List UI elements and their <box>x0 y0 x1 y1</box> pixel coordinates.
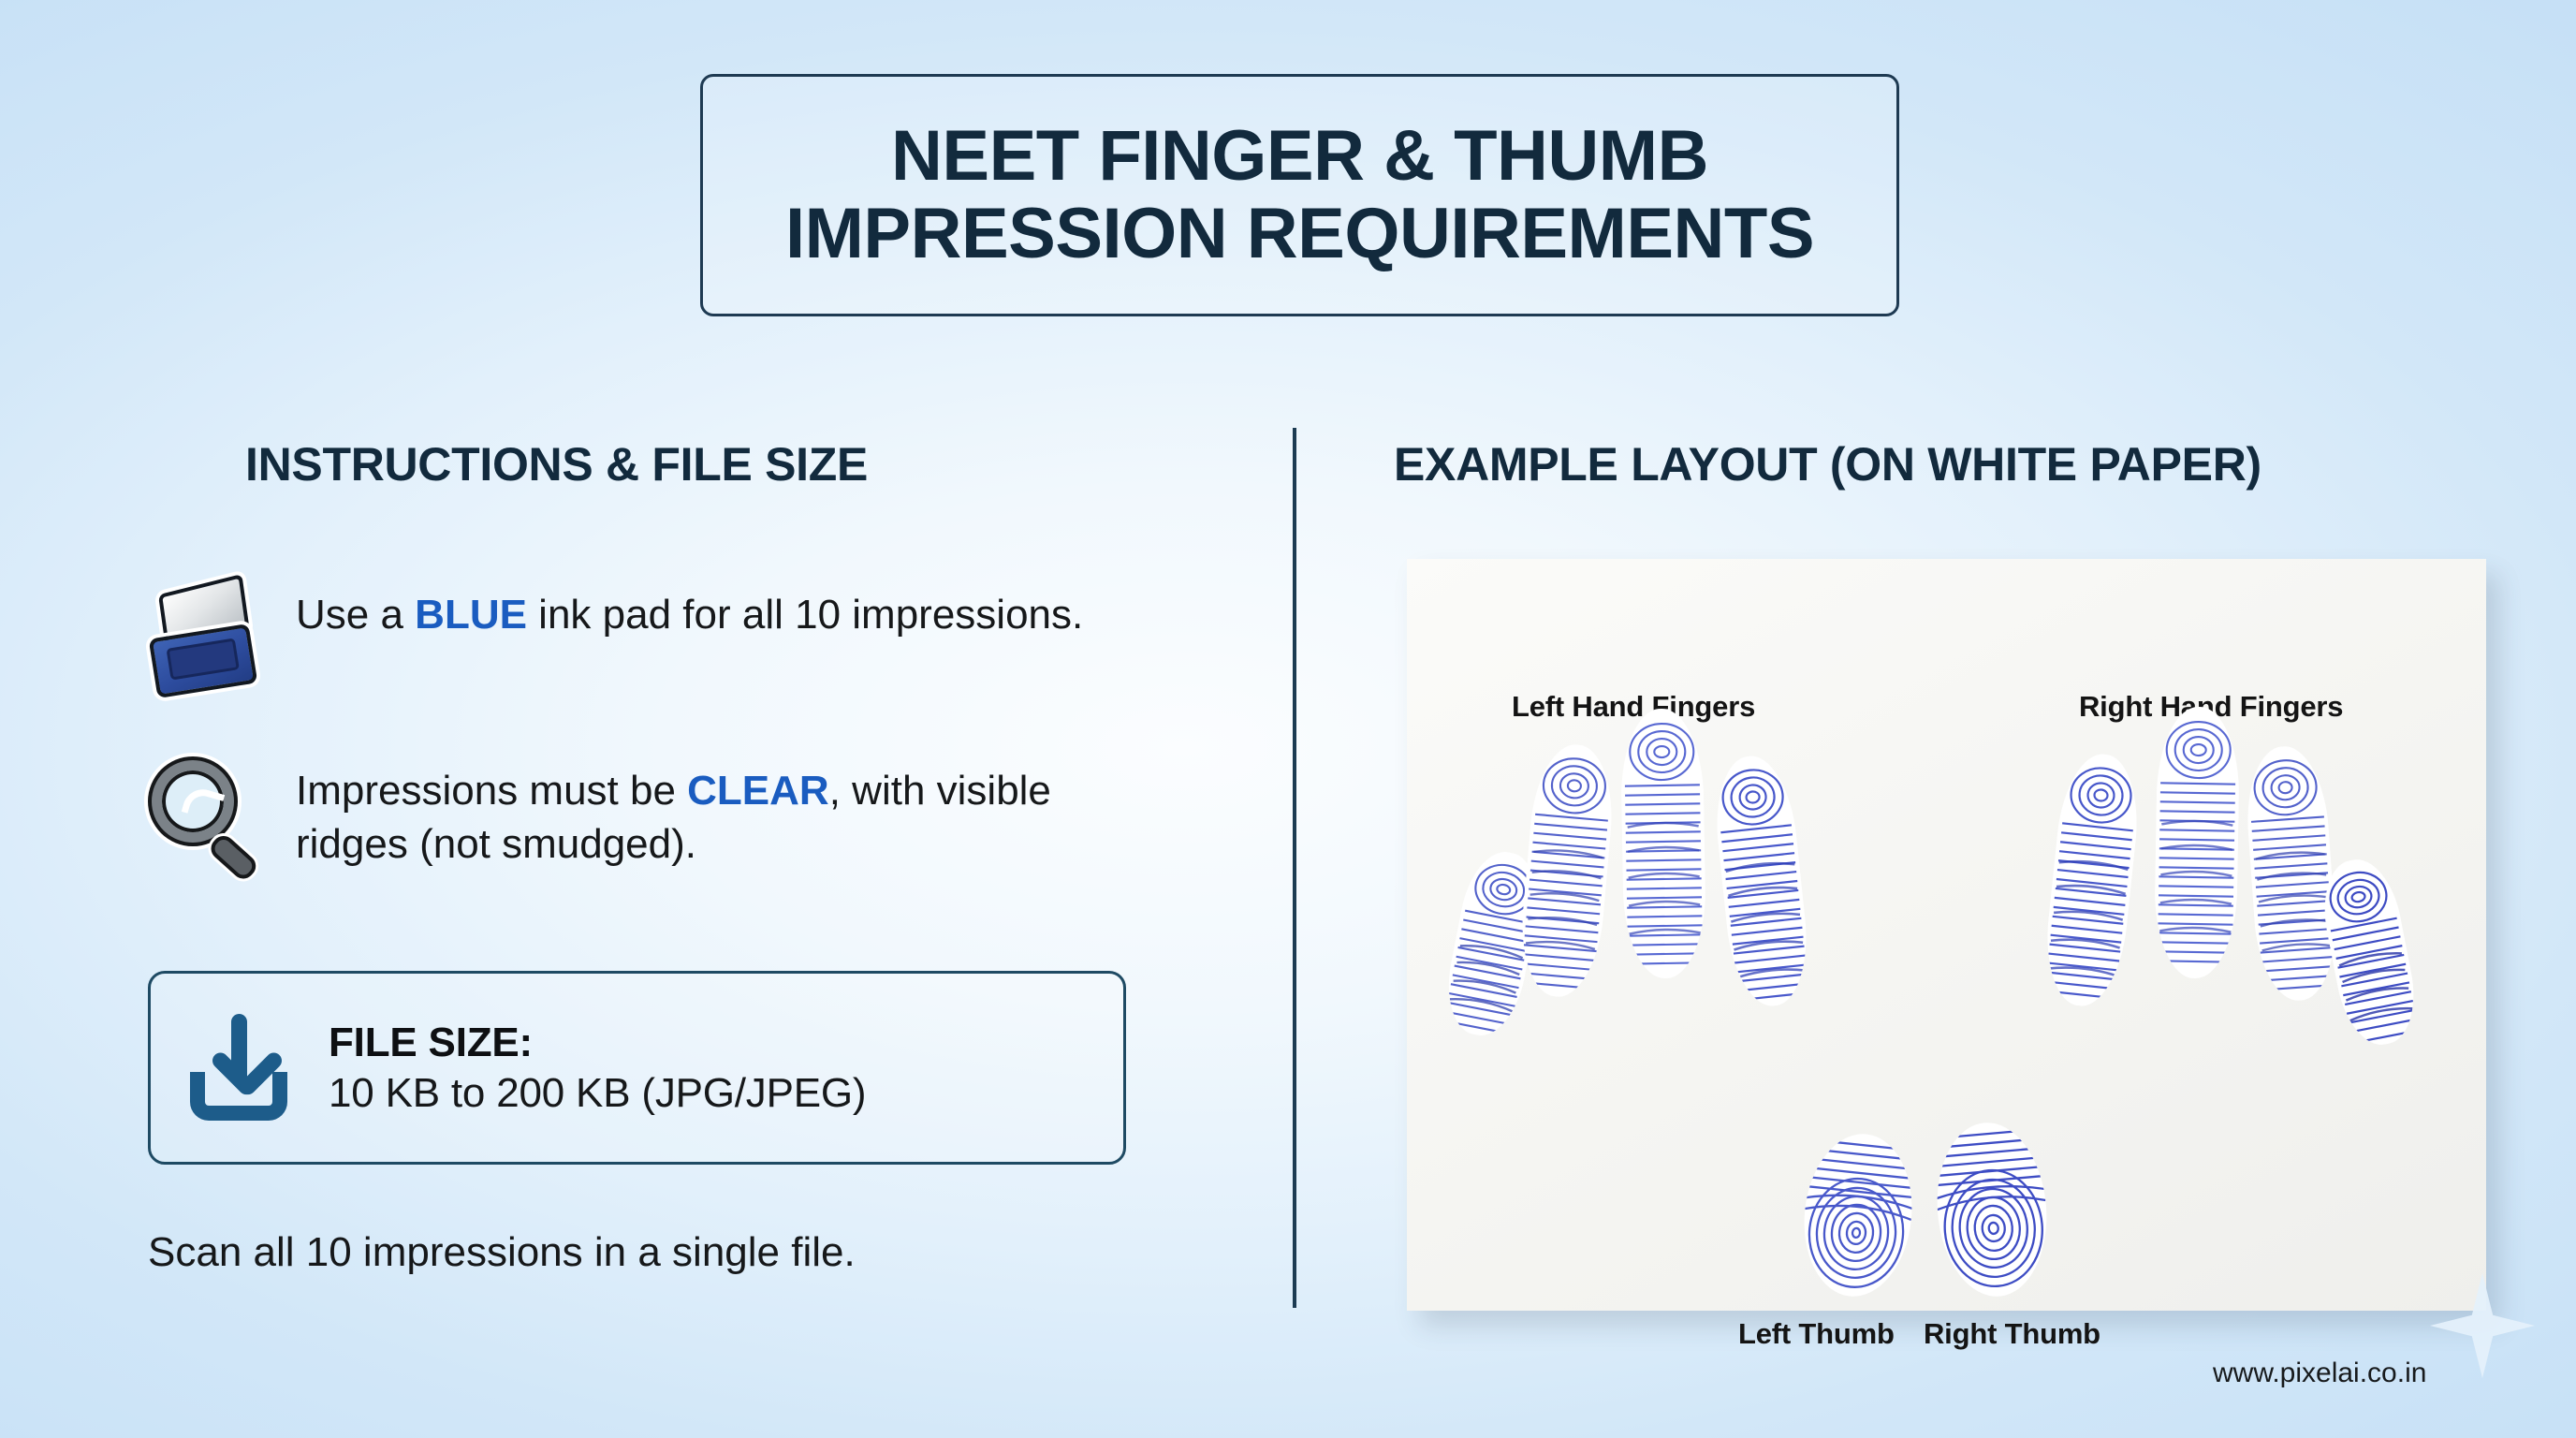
instruction-item-2: Impressions must be CLEAR, with visible … <box>148 756 1149 876</box>
file-size-box: FILE SIZE: 10 KB to 200 KB (JPG/JPEG) <box>148 971 1126 1165</box>
instruction-item-1: Use a BLUE ink pad for all 10 impression… <box>148 580 1149 700</box>
instructions-column: INSTRUCTIONS & FILE SIZE Use a BLUE ink … <box>0 0 1293 1438</box>
fingerprint-right-middle <box>2153 706 2240 978</box>
instruction-1-highlight: BLUE <box>415 592 527 638</box>
instruction-1-after: ink pad for all 10 impressions. <box>527 592 1083 638</box>
instructions-heading: INSTRUCTIONS & FILE SIZE <box>245 437 868 492</box>
instruction-2-before: Impressions must be <box>296 768 687 814</box>
fingerprint-right-pinky <box>2315 853 2424 1051</box>
right-thumb-label: Right Thumb <box>1924 1317 2100 1351</box>
scan-note: Scan all 10 impressions in a single file… <box>148 1229 856 1276</box>
fingerprint-left-index <box>1709 752 1814 1009</box>
fingerprint-left-middle <box>1619 708 1706 978</box>
instruction-1-before: Use a <box>296 592 415 638</box>
file-size-value: 10 KB to 200 KB (JPG/JPEG) <box>329 1070 866 1117</box>
white-paper-sheet: Left Hand Fingers Right Hand Fingers <box>1407 559 2486 1311</box>
ink-pad-icon <box>148 580 268 700</box>
instruction-2-highlight: CLEAR <box>687 768 829 814</box>
column-divider <box>1293 428 1296 1308</box>
file-size-label: FILE SIZE: <box>329 1020 866 1066</box>
magnifier-icon <box>148 756 268 876</box>
instruction-text-2: Impressions must be CLEAR, with visible … <box>296 756 1149 871</box>
instruction-text-1: Use a BLUE ink pad for all 10 impression… <box>296 580 1083 641</box>
fingerprint-right-index <box>2040 750 2144 1009</box>
example-layout-heading: EXAMPLE LAYOUT (ON WHITE PAPER) <box>1394 437 2261 492</box>
fingerprint-left-ring <box>1515 741 1617 1000</box>
site-watermark: www.pixelai.co.in <box>2213 1357 2426 1389</box>
fingerprint-right-thumb <box>1928 1116 2056 1303</box>
download-icon <box>184 1012 293 1124</box>
left-thumb-label: Left Thumb <box>1738 1317 1895 1351</box>
fingerprint-left-thumb <box>1794 1126 1922 1303</box>
